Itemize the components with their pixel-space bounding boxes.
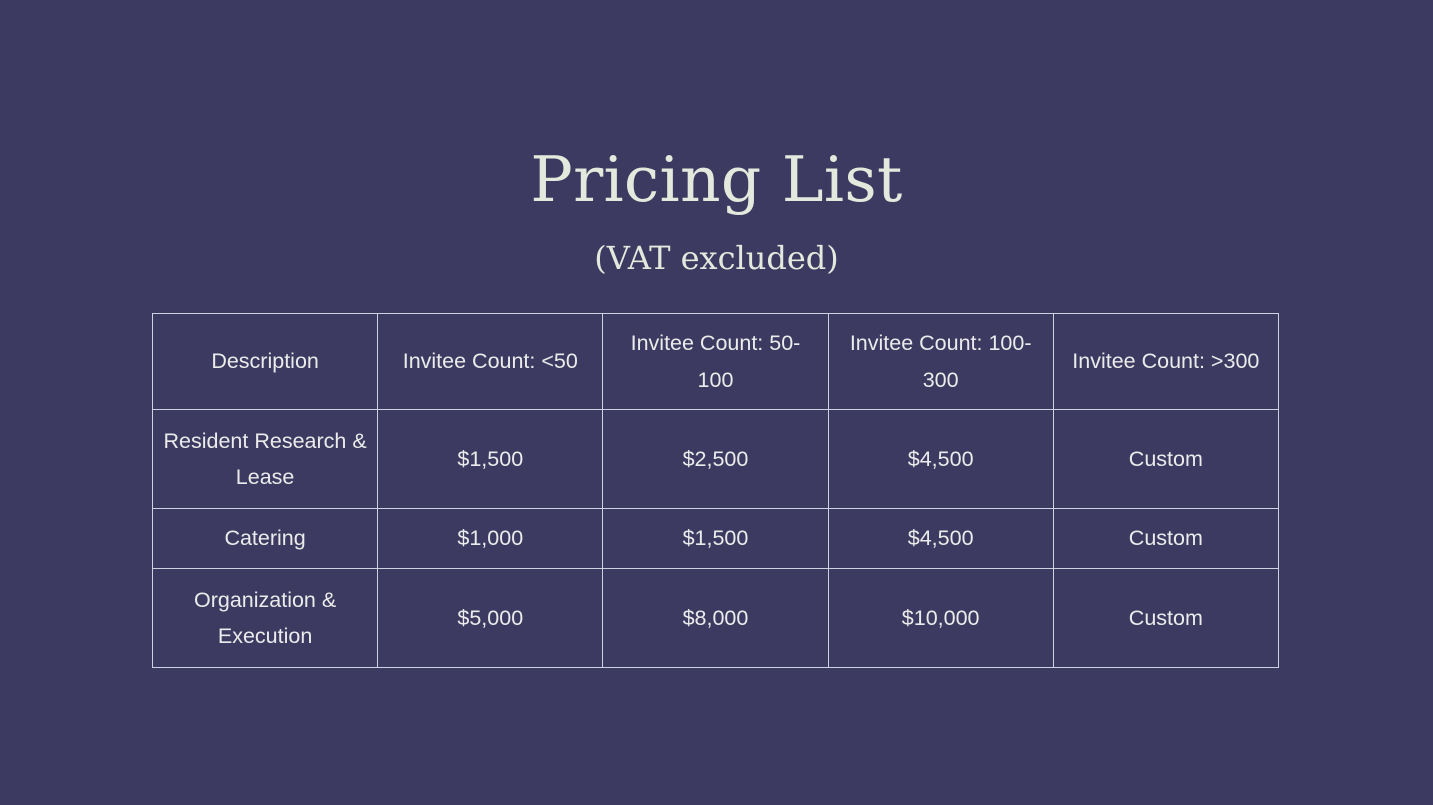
cell-price-100-300: $4,500 xyxy=(828,410,1053,509)
cell-description: Organization & Execution xyxy=(153,569,378,668)
pricing-table-container: Description Invitee Count: <50 Invitee C… xyxy=(152,313,1278,668)
cell-description: Catering xyxy=(153,509,378,569)
column-header-invitee-100-300: Invitee Count: 100-300 xyxy=(828,314,1053,410)
cell-price-100-300: $10,000 xyxy=(828,569,1053,668)
cell-price-under-50: $5,000 xyxy=(378,569,603,668)
page-title: Pricing List xyxy=(0,148,1433,211)
cell-price-over-300: Custom xyxy=(1053,509,1278,569)
cell-price-under-50: $1,000 xyxy=(378,509,603,569)
cell-price-100-300: $4,500 xyxy=(828,509,1053,569)
column-header-invitee-over-300: Invitee Count: >300 xyxy=(1053,314,1278,410)
column-header-invitee-50-100: Invitee Count: 50-100 xyxy=(603,314,828,410)
table-row: Catering $1,000 $1,500 $4,500 Custom xyxy=(153,509,1279,569)
cell-price-over-300: Custom xyxy=(1053,410,1278,509)
column-header-description: Description xyxy=(153,314,378,410)
cell-price-50-100: $2,500 xyxy=(603,410,828,509)
cell-price-over-300: Custom xyxy=(1053,569,1278,668)
table-header-row: Description Invitee Count: <50 Invitee C… xyxy=(153,314,1279,410)
pricing-table: Description Invitee Count: <50 Invitee C… xyxy=(152,313,1279,668)
cell-price-50-100: $1,500 xyxy=(603,509,828,569)
table-row: Resident Research & Lease $1,500 $2,500 … xyxy=(153,410,1279,509)
table-row: Organization & Execution $5,000 $8,000 $… xyxy=(153,569,1279,668)
table-body: Resident Research & Lease $1,500 $2,500 … xyxy=(153,410,1279,668)
cell-description: Resident Research & Lease xyxy=(153,410,378,509)
pricing-slide: Pricing List (VAT excluded) Description … xyxy=(0,0,1433,805)
title-block: Pricing List (VAT excluded) xyxy=(0,148,1433,274)
column-header-invitee-under-50: Invitee Count: <50 xyxy=(378,314,603,410)
cell-price-under-50: $1,500 xyxy=(378,410,603,509)
page-subtitle: (VAT excluded) xyxy=(0,242,1433,274)
table-header: Description Invitee Count: <50 Invitee C… xyxy=(153,314,1279,410)
cell-price-50-100: $8,000 xyxy=(603,569,828,668)
